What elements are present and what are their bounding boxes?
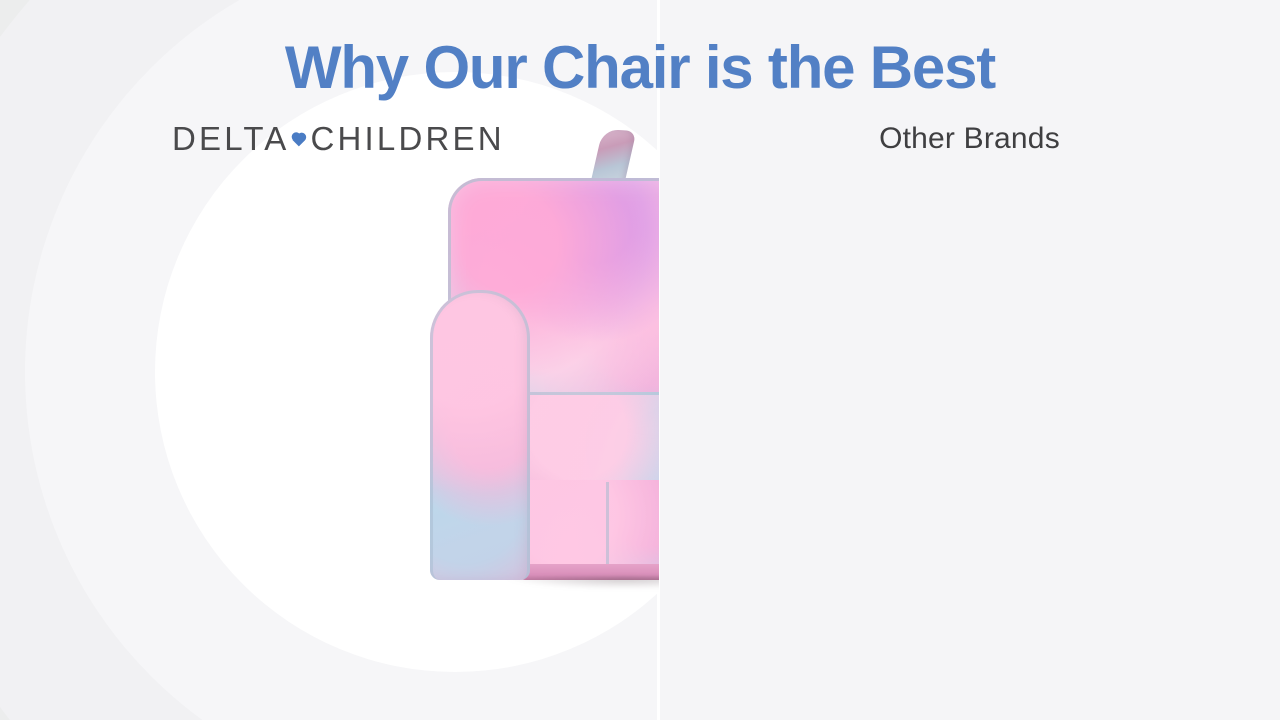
logo-word-children: CHILDREN	[310, 120, 504, 158]
logo-word-delta: DELTA	[172, 120, 289, 158]
page-title: Why Our Chair is the Best	[0, 36, 1280, 99]
delta-children-panel	[0, 0, 659, 720]
chair-photo-seat-cushion	[514, 392, 659, 484]
chair-photo-shadow	[506, 577, 659, 589]
chair-photo-armrest-piping	[430, 290, 530, 580]
other-brands-panel	[659, 0, 1280, 720]
heart-icon	[290, 133, 307, 149]
slide-canvas: Why Our Chair is the Best DELTA CHILDREN…	[0, 0, 1280, 720]
delta-chair-photo	[410, 130, 659, 570]
delta-children-logo: DELTA CHILDREN	[172, 120, 505, 158]
other-brands-label: Other Brands	[659, 122, 1280, 156]
